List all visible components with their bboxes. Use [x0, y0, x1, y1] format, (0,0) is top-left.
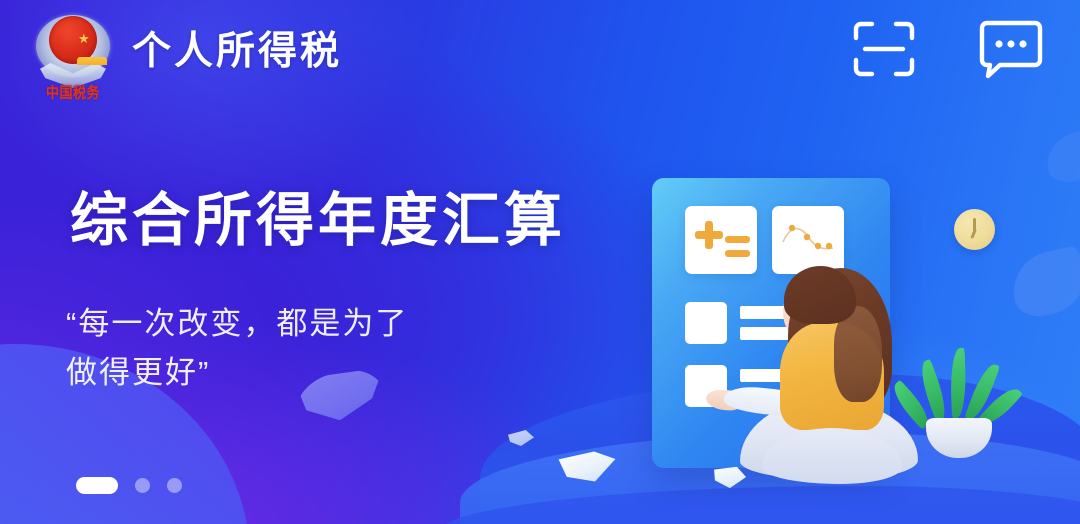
hero-illustration [520, 120, 1080, 524]
header-actions [852, 19, 1044, 84]
hero-subtitle: “每一次改变，都是为了 做得更好” [66, 300, 408, 398]
checkbox-icon [685, 302, 727, 344]
emblem-caption: 中国税务 [32, 85, 114, 100]
tax-app-banner: 中国税务 个人所得税 [0, 0, 1080, 524]
wall-clock-icon [954, 209, 995, 250]
chart-card [772, 206, 844, 274]
plant-leaf [950, 348, 967, 418]
carousel-dot-3[interactable] [167, 478, 182, 493]
plant-pot [926, 418, 992, 458]
app-title: 个人所得税 [132, 32, 342, 71]
app-header: 中国税务 个人所得税 [0, 0, 1080, 102]
potted-plant-icon [912, 348, 1008, 458]
equals-icon [725, 236, 750, 258]
scan-icon[interactable] [852, 20, 916, 83]
carousel-pagination[interactable] [76, 477, 182, 494]
clock-hand-minute [970, 228, 977, 238]
calculator-card [685, 206, 757, 274]
china-tax-emblem-icon: 中国税务 [30, 5, 116, 97]
carousel-dot-1[interactable] [76, 477, 118, 494]
scatter-line-chart-icon [779, 216, 837, 264]
carousel-dot-2[interactable] [135, 478, 150, 493]
emblem-disc [49, 16, 97, 64]
hero-title: 综合所得年度汇算 [70, 192, 566, 250]
chat-bubble-icon[interactable] [978, 19, 1044, 84]
plus-icon [694, 220, 724, 250]
